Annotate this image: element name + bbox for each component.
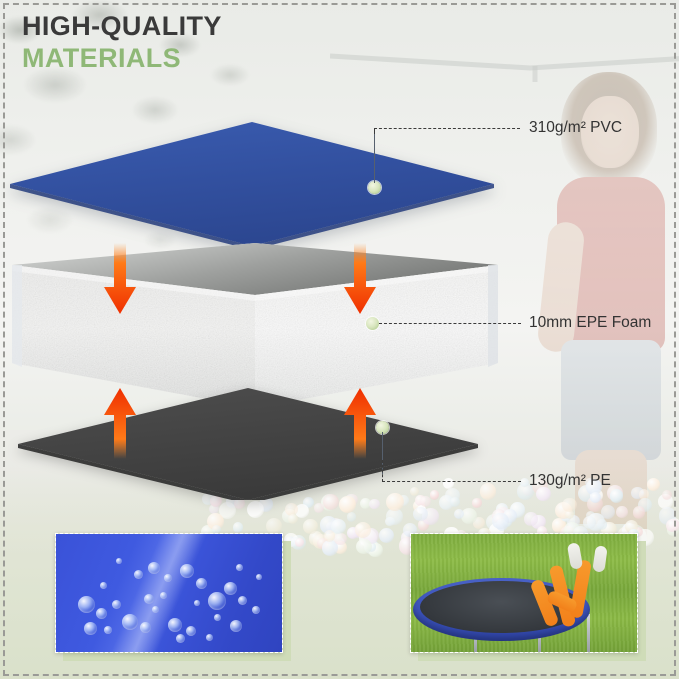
- water-droplet: [140, 622, 151, 633]
- infographic-canvas: HIGH-QUALITY MATERIALS: [0, 0, 679, 679]
- water-droplet: [100, 582, 107, 589]
- water-droplet: [96, 608, 107, 619]
- water-droplet: [256, 574, 262, 580]
- play-ball: [303, 519, 318, 534]
- arrow-up-right-icon: [343, 388, 377, 460]
- play-ball: [662, 490, 672, 500]
- water-droplet: [214, 614, 221, 621]
- water-droplet: [112, 600, 121, 609]
- water-droplet: [122, 614, 138, 630]
- water-droplet: [196, 578, 207, 589]
- water-droplet: [186, 626, 196, 636]
- inset-trampoline[interactable]: [410, 533, 638, 653]
- water-droplet: [152, 606, 159, 613]
- water-droplet: [238, 596, 247, 605]
- callout-foam-leader-horizontal: [379, 323, 521, 324]
- fabric-fold-highlight: [55, 533, 283, 653]
- water-droplet: [208, 592, 226, 610]
- play-ball: [334, 533, 346, 545]
- callout-pvc-leader-horizontal: [374, 128, 520, 129]
- callout-pvc-stem: [374, 131, 375, 183]
- layer-pe-sheet: [18, 388, 478, 500]
- play-ball: [610, 489, 623, 502]
- water-droplet: [224, 582, 237, 595]
- water-droplet: [206, 634, 213, 641]
- arrow-down-left-icon: [103, 243, 137, 315]
- water-droplet: [168, 618, 182, 632]
- water-droplet: [252, 606, 260, 614]
- exploded-layer-diagram: [0, 0, 540, 520]
- callout-pe-leader-vertical: [382, 460, 383, 482]
- inset-waterproof-fabric[interactable]: [55, 533, 283, 653]
- play-ball: [562, 498, 576, 512]
- water-droplet: [160, 592, 167, 599]
- play-ball: [233, 522, 244, 533]
- trampoline-leg-right: [587, 614, 590, 652]
- water-droplet: [236, 564, 243, 571]
- arrow-up-left-icon: [103, 388, 137, 460]
- play-ball: [355, 522, 371, 538]
- water-droplet: [78, 596, 95, 613]
- play-ball: [379, 528, 394, 543]
- water-droplet: [104, 626, 112, 634]
- play-ball: [616, 506, 628, 518]
- inset-right-photo: [410, 533, 638, 653]
- arrow-down-right-icon: [343, 243, 377, 315]
- callout-pe-label: 130g/m² PE: [529, 472, 611, 490]
- water-droplet: [194, 600, 200, 606]
- callout-foam-marker-icon: [366, 317, 379, 330]
- callout-pe-leader-horizontal: [382, 481, 521, 482]
- water-droplet: [180, 564, 194, 578]
- play-ball: [266, 518, 282, 534]
- water-droplet: [116, 558, 122, 564]
- layer-pvc-sheet: [10, 122, 494, 246]
- layer-epe-foam-block: [12, 243, 498, 408]
- water-droplet: [144, 594, 154, 604]
- water-droplet: [134, 570, 143, 579]
- play-ball: [666, 519, 679, 532]
- water-droplet: [148, 562, 160, 574]
- water-droplet: [176, 634, 185, 643]
- inset-left-photo: [55, 533, 283, 653]
- callout-pvc-label: 310g/m² PVC: [529, 119, 622, 137]
- play-ball: [633, 506, 646, 519]
- water-droplet: [164, 574, 172, 582]
- play-ball: [647, 478, 660, 491]
- play-ball: [331, 519, 346, 534]
- play-ball: [295, 538, 304, 547]
- water-droplet: [230, 620, 242, 632]
- water-droplet: [84, 622, 97, 635]
- callout-foam-label: 10mm EPE Foam: [529, 314, 651, 332]
- child-shorts: [561, 340, 661, 460]
